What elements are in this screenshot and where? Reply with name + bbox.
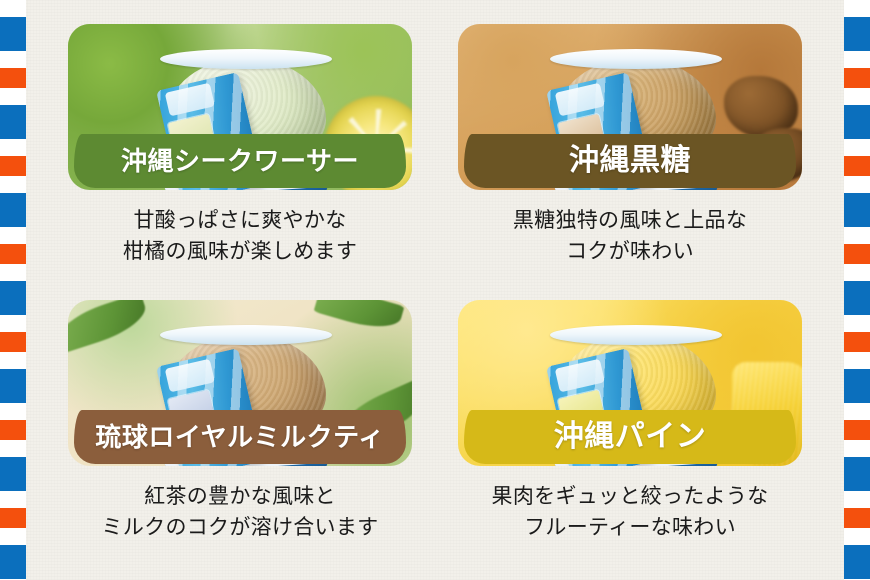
flavor-photo-pine: 沖縄パイン [458, 300, 802, 466]
description-line-1: 紅茶の豊かな風味と [68, 482, 412, 513]
cup-rim [160, 49, 332, 69]
flavor-description-pine: 果肉をギュッと絞ったような フルーティーな味わい [458, 482, 802, 543]
banner-pine: 沖縄パイン [464, 410, 796, 464]
flavor-photo-shikuwasa: 沖縄シークワーサー [68, 24, 412, 190]
flavor-photo-kokuto: 沖縄黒糖 [458, 24, 802, 190]
flavor-photo-royal-milk-tea: 琉球ロイヤルミルクティ [68, 300, 412, 466]
flavor-card-grid: 沖縄シークワーサー 甘酸っぱさに爽やかな 柑橘の風味が楽しめます [0, 0, 870, 580]
banner-royal-milk-tea: 琉球ロイヤルミルクティ [74, 410, 406, 464]
flavor-card-pine[interactable]: 沖縄パイン 果肉をギュッと絞ったような フルーティーな味わい [458, 300, 802, 543]
banner-kokuto: 沖縄黒糖 [464, 134, 796, 188]
promo-page: 沖縄シークワーサー 甘酸っぱさに爽やかな 柑橘の風味が楽しめます [0, 0, 870, 580]
cup-rim [160, 325, 332, 345]
description-line-2: コクが味わい [458, 237, 802, 268]
cup-rim [550, 325, 722, 345]
banner-label: 沖縄シークワーサー [121, 148, 359, 174]
description-line-2: ミルクのコクが溶け合います [68, 513, 412, 544]
banner-shikuwasa: 沖縄シークワーサー [74, 134, 406, 188]
description-line-1: 黒糖独特の風味と上品な [458, 206, 802, 237]
description-line-1: 果肉をギュッと絞ったような [458, 482, 802, 513]
banner-label: 琉球ロイヤルミルクティ [95, 424, 384, 450]
flavor-card-shikuwasa[interactable]: 沖縄シークワーサー 甘酸っぱさに爽やかな 柑橘の風味が楽しめます [68, 24, 412, 267]
description-line-2: 柑橘の風味が楽しめます [68, 237, 412, 268]
cup-rim [550, 49, 722, 69]
flavor-card-kokuto[interactable]: 沖縄黒糖 黒糖独特の風味と上品な コクが味わい [458, 24, 802, 267]
description-line-1: 甘酸っぱさに爽やかな [68, 206, 412, 237]
flavor-description-kokuto: 黒糖独特の風味と上品な コクが味わい [458, 206, 802, 267]
flavor-description-shikuwasa: 甘酸っぱさに爽やかな 柑橘の風味が楽しめます [68, 206, 412, 267]
description-line-2: フルーティーな味わい [458, 513, 802, 544]
banner-label: 沖縄パイン [554, 422, 707, 452]
banner-label: 沖縄黒糖 [569, 146, 691, 176]
flavor-description-royal-milk-tea: 紅茶の豊かな風味と ミルクのコクが溶け合います [68, 482, 412, 543]
flavor-card-royal-milk-tea[interactable]: 琉球ロイヤルミルクティ 紅茶の豊かな風味と ミルクのコクが溶け合います [68, 300, 412, 543]
